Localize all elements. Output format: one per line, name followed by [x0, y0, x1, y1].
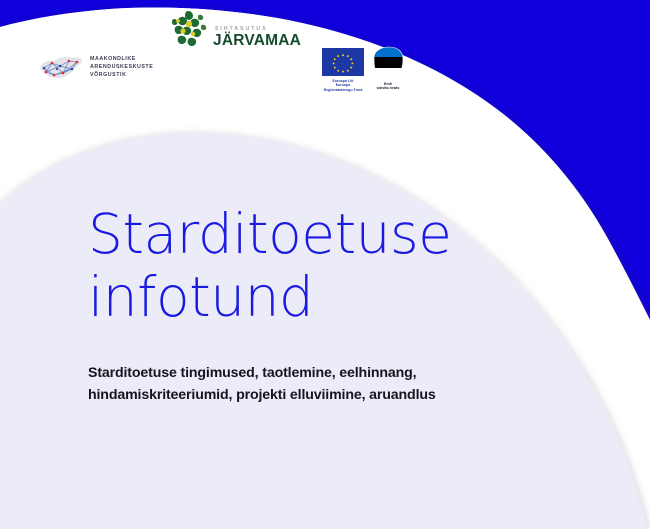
logo-maakondlike-arenduskeskuste-vorgustik: MAAKONDLIKE ARENDUSKESKUSTE VÕRGUSTIK — [36, 48, 153, 86]
logo-jarvamaa-name: JÄRVAMAA — [213, 33, 301, 48]
logo-mak-line-2: ARENDUSKESKUSTE — [90, 63, 153, 71]
logo-eesti-tuleviku-heaks: Eesti tuleviku heaks — [370, 46, 406, 90]
logo-eu-caption: Euroopa Liit Euroopa Regionaalarengu Fon… — [322, 79, 364, 92]
eu-flag-icon — [322, 48, 364, 76]
logo-strip: MAAKONDLIKE ARENDUSKESKUSTE VÕRGUSTIK — [0, 0, 650, 110]
jarvamaa-leaf-map-icon — [168, 8, 212, 52]
estonia-network-map-icon — [36, 48, 84, 86]
logo-mak-line-3: VÕRGUSTIK — [90, 71, 153, 79]
logo-jarvamaa-wordmark: SIHTASUTUS JÄRVAMAA — [213, 26, 301, 48]
logo-mak-wordmark: MAAKONDLIKE ARENDUSKESKUSTE VÕRGUSTIK — [90, 55, 153, 80]
presentation-slide: MAAKONDLIKE ARENDUSKESKUSTE VÕRGUSTIK — [0, 0, 650, 529]
page-subtitle: Starditoetuse tingimused, taotlemine, ee… — [88, 362, 558, 406]
logo-european-union: Euroopa Liit Euroopa Regionaalarengu Fon… — [322, 48, 364, 92]
logo-mak-line-1: MAAKONDLIKE — [90, 55, 153, 63]
logo-estonia-caption: Eesti tuleviku heaks — [370, 82, 406, 90]
estonia-flag-cap-icon — [370, 46, 406, 80]
logo-sihtasutus-jarvamaa: SIHTASUTUS JÄRVAMAA — [168, 8, 301, 52]
page-title: Starditoetuse infotund — [88, 203, 558, 329]
